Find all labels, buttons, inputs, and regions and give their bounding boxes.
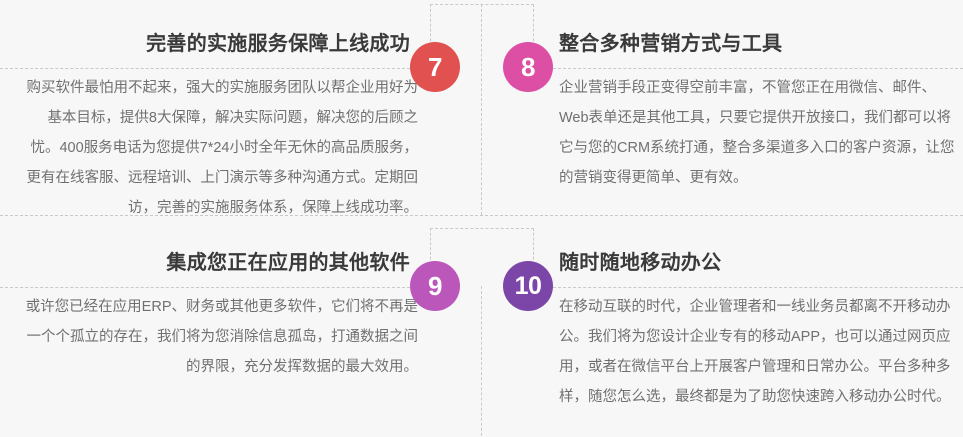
feature-title-7: 完善的实施服务保障上线成功 xyxy=(146,32,410,56)
feature-badge-10: 10 xyxy=(503,261,553,311)
feature-card-8: 整合多种营销方式与工具 企业营销手段正变得空前丰富，不管您正在用微信、邮件、We… xyxy=(529,0,963,215)
feature-title-9: 集成您正在应用的其他软件 xyxy=(166,251,410,275)
feature-grid: 7 8 9 10 完善的实施服务保障上线成功 购买软件最怕用不起来，强大的实施服… xyxy=(0,0,963,437)
feature-card-10: 随时随地移动办公 在移动互联的时代，企业管理者和一线业务员都离不开移动办公。我们… xyxy=(529,219,963,437)
feature-badge-9: 9 xyxy=(410,261,460,311)
feature-body-7: 购买软件最怕用不起来，强大的实施服务团队以帮企业用好为基本目标，提供8大保障，解… xyxy=(24,73,418,223)
feature-body-10: 在移动互联的时代，企业管理者和一线业务员都离不开移动办公。我们将为您设计企业专有… xyxy=(559,292,957,412)
feature-body-8: 企业营销手段正变得空前丰富，不管您正在用微信、邮件、Web表单还是其他工具，只要… xyxy=(559,73,957,193)
feature-badge-7: 7 xyxy=(410,42,460,92)
connector-bottom-horizontal xyxy=(430,228,534,229)
connector-top-horizontal xyxy=(430,4,534,5)
connector-top-center-vertical xyxy=(481,4,482,215)
feature-card-9: 集成您正在应用的其他软件 或许您已经在应用ERP、财务或其他更多软件，它们将不再… xyxy=(0,219,434,437)
connector-bottom-center-vertical xyxy=(481,286,482,436)
feature-badge-8: 8 xyxy=(503,42,553,92)
feature-title-8: 整合多种营销方式与工具 xyxy=(559,32,782,56)
feature-card-7: 完善的实施服务保障上线成功 购买软件最怕用不起来，强大的实施服务团队以帮企业用好… xyxy=(0,0,434,215)
feature-body-9: 或许您已经在应用ERP、财务或其他更多软件，它们将不再是一个个孤立的存在，我们将… xyxy=(24,292,418,382)
feature-title-10: 随时随地移动办公 xyxy=(559,251,721,275)
